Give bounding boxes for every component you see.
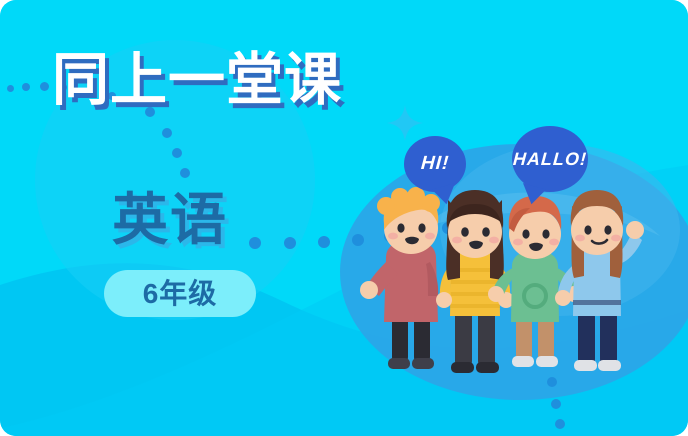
- dot-trail-lower-dot: [284, 237, 296, 249]
- dot-trail-lower-dot: [352, 234, 364, 246]
- dot-trail-right-dot: [555, 419, 565, 429]
- course-title: 同上一堂课: [52, 52, 382, 109]
- sparkle-star-icon: [386, 104, 424, 142]
- dot-trail-upper-dot: [162, 128, 172, 138]
- child-boy-redhead: [488, 196, 582, 367]
- speech-bubble-hi-text: HI!: [420, 153, 450, 175]
- speech-bubble-hi-tail: [432, 183, 460, 207]
- dot-trail-right-dot: [547, 377, 557, 387]
- dot-trail-upper-dot: [22, 83, 30, 91]
- dot-trail-lower-dot: [318, 236, 330, 248]
- speech-bubble-hallo-tail: [518, 183, 546, 207]
- dot-trail-lower-dot: [384, 230, 396, 242]
- speech-bubble-hallo-text: HALLO!: [512, 149, 587, 170]
- child-boy-blonde: [360, 187, 440, 369]
- course-subject: 英语: [112, 192, 228, 248]
- grade-badge[interactable]: 6年级: [104, 270, 256, 317]
- child-girl-brown: [555, 190, 644, 371]
- dot-trail-right-dot: [543, 353, 553, 363]
- dot-trail-upper-dot: [40, 82, 49, 91]
- dot-trail-lower-dot: [442, 222, 454, 234]
- dot-trail-right-dot: [551, 399, 561, 409]
- dot-trail-lower-dot: [249, 237, 261, 249]
- course-banner-card[interactable]: HI! HALLO! 同上一堂课 英语 6年级: [0, 0, 688, 436]
- child-girl-brunette: [436, 190, 514, 373]
- speech-bubble-hallo: HALLO!: [512, 126, 588, 192]
- speech-bubble-hi: HI!: [404, 136, 466, 192]
- dot-trail-upper-dot: [180, 168, 190, 178]
- grade-badge-label: 6年级: [143, 280, 218, 308]
- dot-trail-upper-dot: [7, 85, 14, 92]
- dot-trail-upper-dot: [172, 148, 182, 158]
- dot-trail-lower-dot: [414, 226, 426, 238]
